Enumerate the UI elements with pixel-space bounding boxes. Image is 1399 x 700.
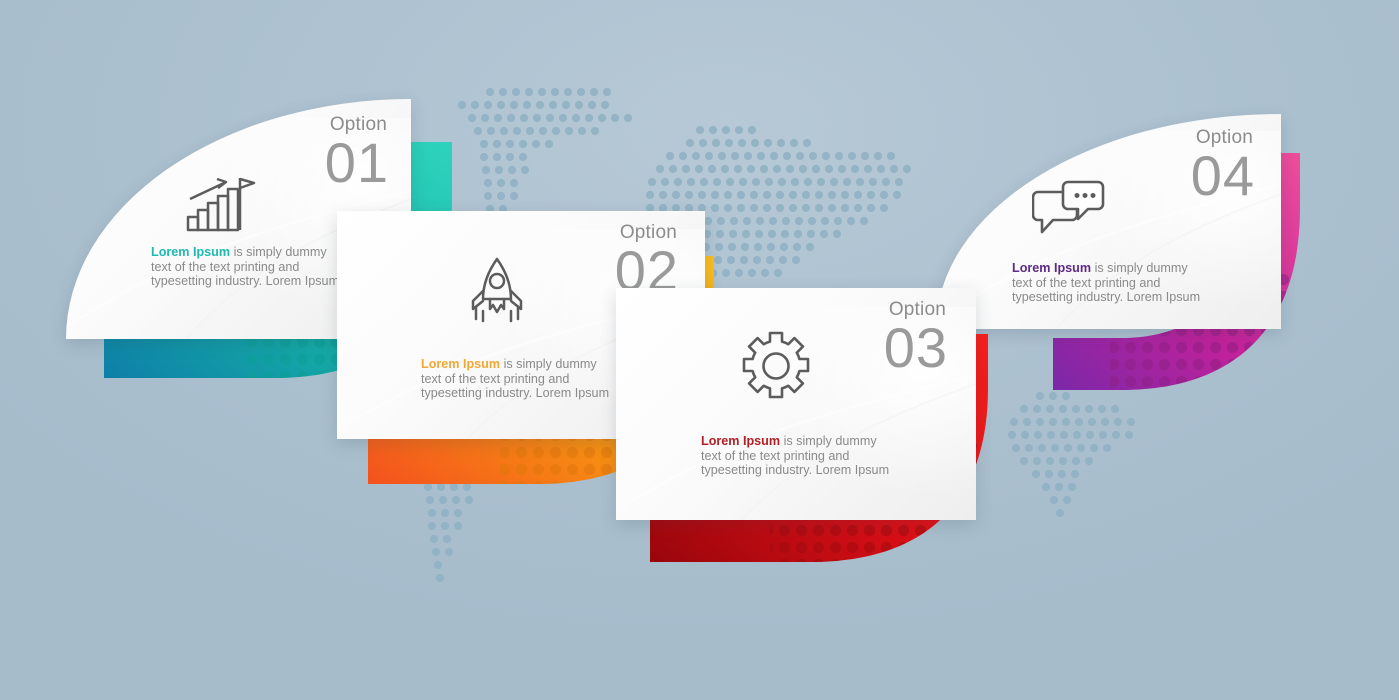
reflection-strip: Lorem Ipsum is simply dummy text of the … <box>0 612 1399 700</box>
rocket-icon <box>465 255 529 327</box>
description-01: Lorem Ipsum is simply dummy text of the … <box>151 245 341 289</box>
infographic-canvas: Option 04 Lorem Ipsum is simply dummy te… <box>0 0 1399 700</box>
growth-chart-flag-icon <box>184 172 256 234</box>
world-map-dot-pattern-right <box>980 390 1190 610</box>
card-04[interactable]: Option 04 Lorem Ipsum is simply dummy te… <box>936 114 1281 329</box>
description-heading-03: Lorem Ipsum <box>701 434 780 448</box>
description-heading-02: Lorem Ipsum <box>421 357 500 371</box>
description-heading-01: Lorem Ipsum <box>151 245 230 259</box>
chat-bubbles-icon <box>1032 178 1108 238</box>
option-number-04: 04 <box>1095 148 1255 204</box>
description-02: Lorem Ipsum is simply dummy text of the … <box>421 357 611 401</box>
option-number-03: 03 <box>788 320 948 376</box>
description-03: Lorem Ipsum is simply dummy text of the … <box>701 434 891 478</box>
description-heading-04: Lorem Ipsum <box>1012 261 1091 275</box>
card-03[interactable]: Option 03 Lorem Ipsum is simply dummy te… <box>616 288 976 520</box>
world-map-dot-pattern-left <box>396 440 526 615</box>
description-04: Lorem Ipsum is simply dummy text of the … <box>1012 261 1202 305</box>
gear-icon <box>740 330 812 402</box>
